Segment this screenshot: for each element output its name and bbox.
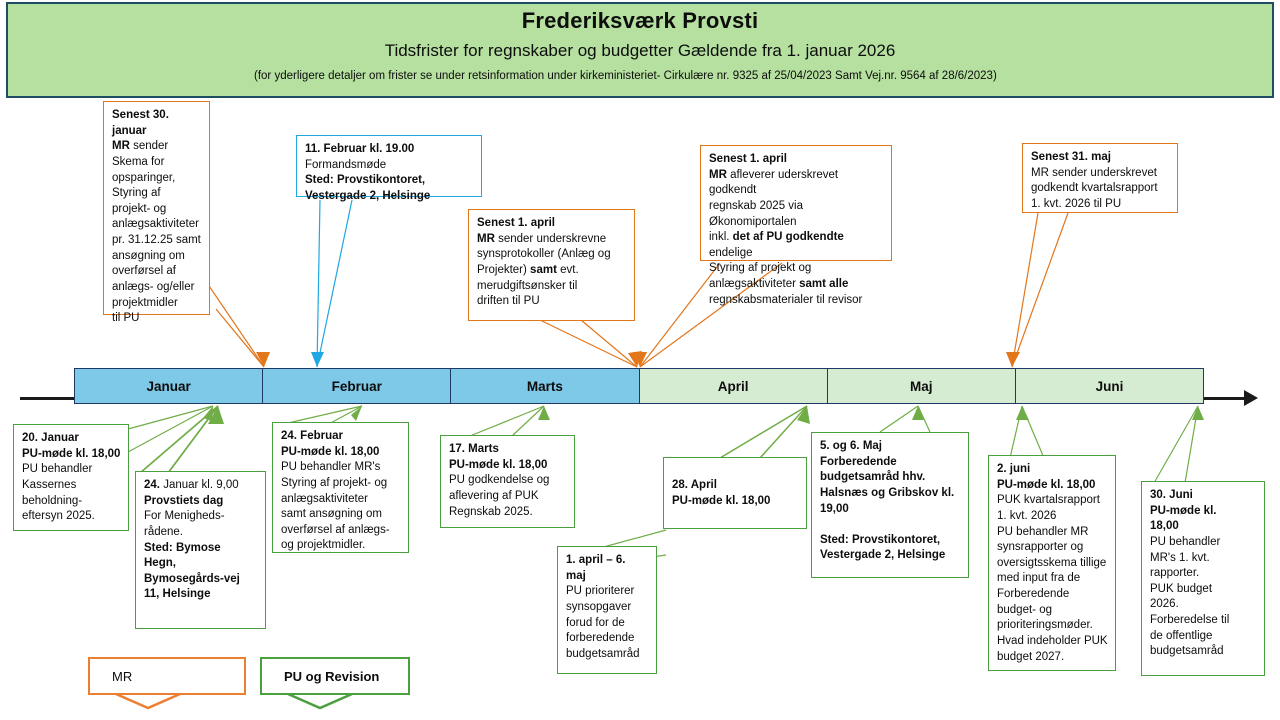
legend-label-pu-og-revision: PU og Revision (284, 669, 379, 684)
callout-line: MR afleverer uderskrevet godkendt (709, 168, 884, 199)
callout-line: anlægsaktiviteter (112, 217, 202, 233)
callout-2-juni[interactable]: 2. juniPU-møde kl. 18,00PUK kvartalsrapp… (988, 455, 1116, 671)
callout-line: og projektmidler. (281, 538, 401, 554)
callout-line: anlægsaktiviteter samt alle (709, 277, 884, 293)
callout-line: MR sender underskrevne (477, 232, 627, 248)
callout-line: Senest 31. maj (1031, 150, 1170, 166)
callout-28-april[interactable]: 28. AprilPU-møde kl. 18,00 (663, 457, 807, 529)
callout-line (820, 517, 961, 533)
callout-line: MR sender underskrevet (1031, 166, 1170, 182)
callout-30-juni[interactable]: 30. JuniPU-møde kl.18,00PU behandlerMR's… (1141, 481, 1265, 676)
callout-5-og-6-maj[interactable]: 5. og 6. MajForberedendebudgetsamråd hhv… (811, 432, 969, 578)
callout-line: Senest 30. januar (112, 108, 202, 139)
callout-1-april-6-maj[interactable]: 1. april – 6.majPU prioriterersynsopgave… (557, 546, 657, 674)
header-note-line-1: (for yderligere detaljer om frister se u… (254, 70, 832, 82)
callout-line: 5. og 6. Maj (820, 439, 961, 455)
callout-line: Regnskab 2025. (449, 505, 567, 521)
callout-line: Hegn, (144, 556, 258, 572)
callout-line: PU-møde kl. 18,00 (281, 445, 401, 461)
callout-line: 28. April (672, 478, 799, 494)
month-april[interactable]: April (640, 369, 828, 403)
callout-line: ansøgning om (112, 249, 202, 265)
callout-line: PU godkendelse og (449, 473, 567, 489)
callout-line: beholdning- (22, 494, 121, 510)
timeline-diagram: Frederiksværk Provsti Tidsfrister for re… (0, 0, 1280, 720)
callout-line: 1. kvt. 2026 (997, 509, 1108, 525)
callout-line: budget 2027. (997, 650, 1108, 666)
callout-line: 24. Januar kl. 9,00 (144, 478, 258, 494)
callout-line: inkl. det af PU godkendte endelige (709, 230, 884, 261)
callout-line: 1. april – 6. (566, 553, 649, 569)
callout-line: PU-møde kl. 18,00 (449, 458, 567, 474)
callout-line: forud for de (566, 616, 649, 632)
callout-line: forberedende (566, 631, 649, 647)
callout-line: projektmidler (112, 296, 202, 312)
callout-line: PU behandler MR's (281, 460, 401, 476)
callout-line: budgetsamråd (566, 647, 649, 663)
callout-line: regnskab 2025 via Økonomiportalen (709, 199, 884, 230)
callout-line: rådene. (144, 525, 258, 541)
month-januar[interactable]: Januar (75, 369, 263, 403)
callout-line: 1. kvt. 2026 til PU (1031, 197, 1170, 213)
callout-line: Formandsmøde (305, 158, 474, 174)
month-marts[interactable]: Marts (451, 369, 639, 403)
callout-line: 24. Februar (281, 429, 401, 445)
callout-line: eftersyn 2025. (22, 509, 121, 525)
callout-line: MR sender (112, 139, 202, 155)
callout-line: Senest 1. april (709, 152, 884, 168)
callout-line: 11. Februar kl. 19.00 (305, 142, 474, 158)
callout-line: overførsel af (112, 264, 202, 280)
page-title: Frederiksværk Provsti (8, 4, 1272, 32)
callout-line: Halsnæs og Gribskov kl. (820, 486, 961, 502)
header-note: (for yderligere detaljer om frister se u… (254, 59, 1272, 85)
callout-line: regnskabsmaterialer til revisor (709, 293, 884, 309)
callout-line: MR's 1. kvt. (1150, 551, 1257, 567)
callout-line: med input fra de (997, 571, 1108, 587)
callout-line: PU-møde kl. 18,00 (997, 478, 1108, 494)
callout-line: godkendt kvartalsrapport (1031, 181, 1170, 197)
callout-line: Forberedende (997, 587, 1108, 603)
callout-line: Senest 1. april (477, 216, 627, 232)
callout-line: For Menigheds- (144, 509, 258, 525)
timeline-months: Januar Februar Marts April Maj Juni (74, 368, 1204, 404)
callout-line: Bymosegårds-vej (144, 572, 258, 588)
callout-line: projekt- og (112, 202, 202, 218)
callout-line: synsopgaver (566, 600, 649, 616)
legend-label-mr: MR (112, 669, 132, 684)
callout-line: 19,00 (820, 502, 961, 518)
callout-line: 11, Helsinge (144, 587, 258, 603)
month-maj[interactable]: Maj (828, 369, 1016, 403)
callout-senest-1-april-regnskab[interactable]: Senest 1. aprilMR afleverer uderskrevet … (700, 145, 892, 261)
callout-11-februar[interactable]: 11. Februar kl. 19.00FormandsmødeSted: P… (296, 135, 482, 197)
callout-line: opsparinger, (112, 171, 202, 187)
callout-line: Sted: Provstikontoret, (305, 173, 474, 189)
callout-20-januar[interactable]: 20. JanuarPU-møde kl. 18,00PU behandlerK… (13, 424, 129, 531)
callout-line: 18,00 (1150, 519, 1257, 535)
header-banner: Frederiksværk Provsti Tidsfrister for re… (6, 2, 1274, 98)
callout-line: rapporter. (1150, 566, 1257, 582)
callout-line: driften til PU (477, 294, 627, 310)
callout-line: anlægsaktiviteter (281, 492, 401, 508)
callout-line: 2026. (1150, 597, 1257, 613)
callout-line: Provstiets dag (144, 494, 258, 510)
month-juni[interactable]: Juni (1016, 369, 1203, 403)
callout-line: Styring af projekt- og (281, 476, 401, 492)
callout-line: PU behandler (1150, 535, 1257, 551)
callout-line: Styring af (112, 186, 202, 202)
callout-line: Sted: Provstikontoret, (820, 533, 961, 549)
callout-line: Styring af projekt og (709, 261, 884, 277)
callout-senest-30-januar[interactable]: Senest 30. januarMR senderSkema foropspa… (103, 101, 210, 315)
callout-line: Kassernes (22, 478, 121, 494)
callout-24-januar[interactable]: 24. Januar kl. 9,00Provstiets dagFor Men… (135, 471, 266, 629)
callout-line: til PU (112, 311, 202, 327)
callout-line: anlægs- og/eller (112, 280, 202, 296)
callout-17-marts[interactable]: 17. MartsPU-møde kl. 18,00PU godkendelse… (440, 435, 575, 528)
callout-line: 20. Januar (22, 431, 121, 447)
callout-line: PU-møde kl. 18,00 (22, 447, 121, 463)
callout-line: synsrapporter og (997, 540, 1108, 556)
callout-line: Skema for (112, 155, 202, 171)
callout-line: PU behandler MR (997, 525, 1108, 541)
callout-line: Vestergade 2, Helsinge (820, 548, 961, 564)
callout-line: budget- og (997, 603, 1108, 619)
callout-senest-31-maj[interactable]: Senest 31. majMR sender underskrevetgodk… (1022, 143, 1178, 213)
callout-line: merudgiftsønsker til (477, 279, 627, 295)
callout-line: pr. 31.12.25 samt (112, 233, 202, 249)
callout-line: prioriteringsmøder. (997, 618, 1108, 634)
callout-line: PUK kvartalsrapport (997, 493, 1108, 509)
callout-line: samt ansøgning om (281, 507, 401, 523)
callout-line: 2. juni (997, 462, 1108, 478)
callout-line: Forberedelse til (1150, 613, 1257, 629)
callout-line: maj (566, 569, 649, 585)
callout-line: budgetsamråd hhv. (820, 470, 961, 486)
callout-line: de offentlige (1150, 629, 1257, 645)
callout-line: Vestergade 2, Helsinge (305, 189, 474, 205)
callout-line: overførsel af anlægs- (281, 523, 401, 539)
callout-senest-1-april-synsprotokoller[interactable]: Senest 1. aprilMR sender underskrevnesyn… (468, 209, 635, 321)
callout-line: Forberedende (820, 455, 961, 471)
legend-item-pu-og-revision[interactable]: PU og Revision (260, 657, 410, 695)
callout-line: budgetsamråd (1150, 644, 1257, 660)
callout-line: PUK budget (1150, 582, 1257, 598)
callout-line: PU-møde kl. 18,00 (672, 494, 799, 510)
callout-line: PU prioriterer (566, 584, 649, 600)
callout-line: PU-møde kl. (1150, 504, 1257, 520)
callout-24-februar[interactable]: 24. FebruarPU-møde kl. 18,00PU behandler… (272, 422, 409, 553)
legend-item-mr[interactable]: MR (88, 657, 246, 695)
callout-line: 30. Juni (1150, 488, 1257, 504)
header-note-line-2: Samt Vej.nr. 9564 af 28/6/2023) (835, 70, 997, 82)
month-februar[interactable]: Februar (263, 369, 451, 403)
callout-line: synsprotokoller (Anlæg og (477, 247, 627, 263)
callout-line: Projekter) samt evt. (477, 263, 627, 279)
page-subtitle: Tidsfrister for regnskaber og budgetter … (8, 32, 1272, 59)
callout-line: Sted: Bymose (144, 541, 258, 557)
callout-line: Hvad indeholder PUK (997, 634, 1108, 650)
timeline-arrow-icon (1244, 390, 1258, 406)
callout-line: aflevering af PUK (449, 489, 567, 505)
callout-line: 17. Marts (449, 442, 567, 458)
callout-line: PU behandler (22, 462, 121, 478)
callout-line: oversigtsskema tillige (997, 556, 1108, 572)
